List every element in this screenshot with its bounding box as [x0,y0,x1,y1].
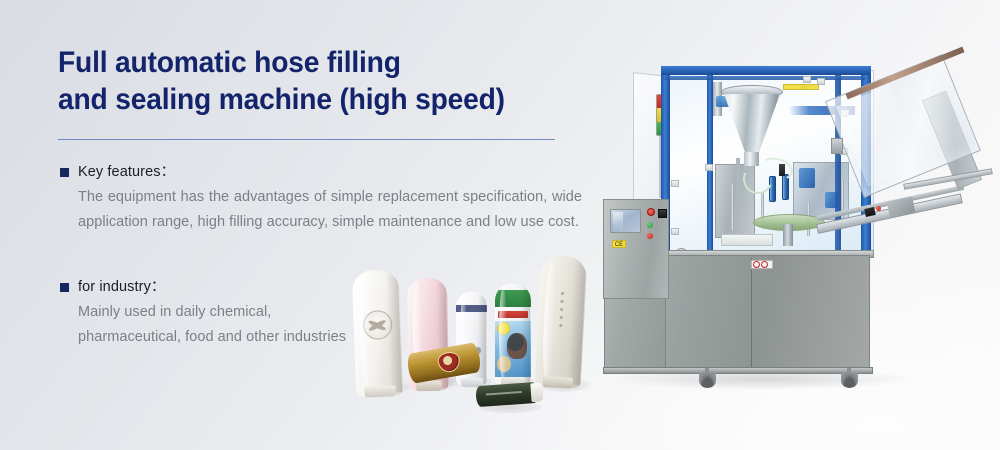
guide-rod [731,184,734,230]
leveling-foot [699,373,716,388]
machine-photo: CE [603,52,993,397]
industry-title: for industry： [78,277,166,297]
frame-clamp [671,228,679,235]
bullet-square-icon [60,283,69,292]
product-banner: Full automatic hose filling and sealing … [0,0,1000,450]
page-title-line-2: and sealing machine (high speed) [58,81,556,118]
stop-button[interactable] [647,233,653,239]
key-features-body: The equipment has the advantages of simp… [78,185,582,235]
frame-post-middle [707,66,713,258]
tube-cap [543,376,574,389]
headline-block: Full automatic hose filling and sealing … [58,44,588,118]
tube-text-line [486,391,522,396]
product-tubes-group [352,256,587,421]
tube-body [352,269,403,397]
title-divider [58,139,555,140]
list-item [475,382,538,407]
page-title-line-1: Full automatic hose filling [58,44,556,81]
filling-pipe [736,158,740,210]
guard-door-hinge [831,138,843,154]
frame-clamp [803,76,811,83]
key-features-heading-row: Key features： [60,162,582,182]
list-item [352,269,403,397]
bullet-square-icon [60,168,69,177]
emergency-stop-button[interactable] [647,208,655,216]
industry-body: Mainly used in daily chemical, pharmaceu… [78,300,360,350]
page-title: Full automatic hose filling and sealing … [58,44,556,118]
tube-body [495,284,531,386]
flower-graphic-icon [362,310,392,340]
tube-highlight [541,260,557,378]
industry-heading-row: for industry： [60,277,360,297]
warning-sticker [783,84,819,90]
frame-clamp [817,78,825,85]
spf-badge-icon [497,322,510,335]
ce-label: CE [612,240,626,248]
turntable-column [783,224,793,246]
frame-clamp [705,164,713,171]
key-features-title: Key features： [78,162,175,182]
leveling-foot [841,373,858,388]
tube-cap [530,383,543,403]
key-features-block: Key features： The equipment has the adva… [60,162,582,235]
tube-cap [364,385,395,397]
frame-top-beam [661,66,871,75]
power-switch[interactable] [658,209,667,218]
list-item [495,284,531,386]
tube-brand-band [495,290,531,307]
industry-block: for industry： Mainly used in daily chemi… [60,277,360,350]
tube-dot-pattern [559,287,564,332]
cabinet-bottom-rail [603,367,873,374]
crest-graphic-icon [437,350,462,374]
blue-actuator [799,168,815,188]
hmi-touch-screen[interactable] [610,209,641,233]
start-button[interactable] [647,222,653,228]
frame-clamp [671,180,679,187]
tube-accent-band [498,311,528,318]
tube-body [535,255,588,388]
list-item [535,255,588,388]
tube-body [475,382,538,407]
cabinet-warning-label [751,260,773,269]
frame-top-beam-lower [665,76,865,80]
tube-shade [568,259,587,385]
cabinet-door-seam [751,258,752,370]
tube-tray [721,234,773,246]
tube-brand-band [456,305,487,312]
